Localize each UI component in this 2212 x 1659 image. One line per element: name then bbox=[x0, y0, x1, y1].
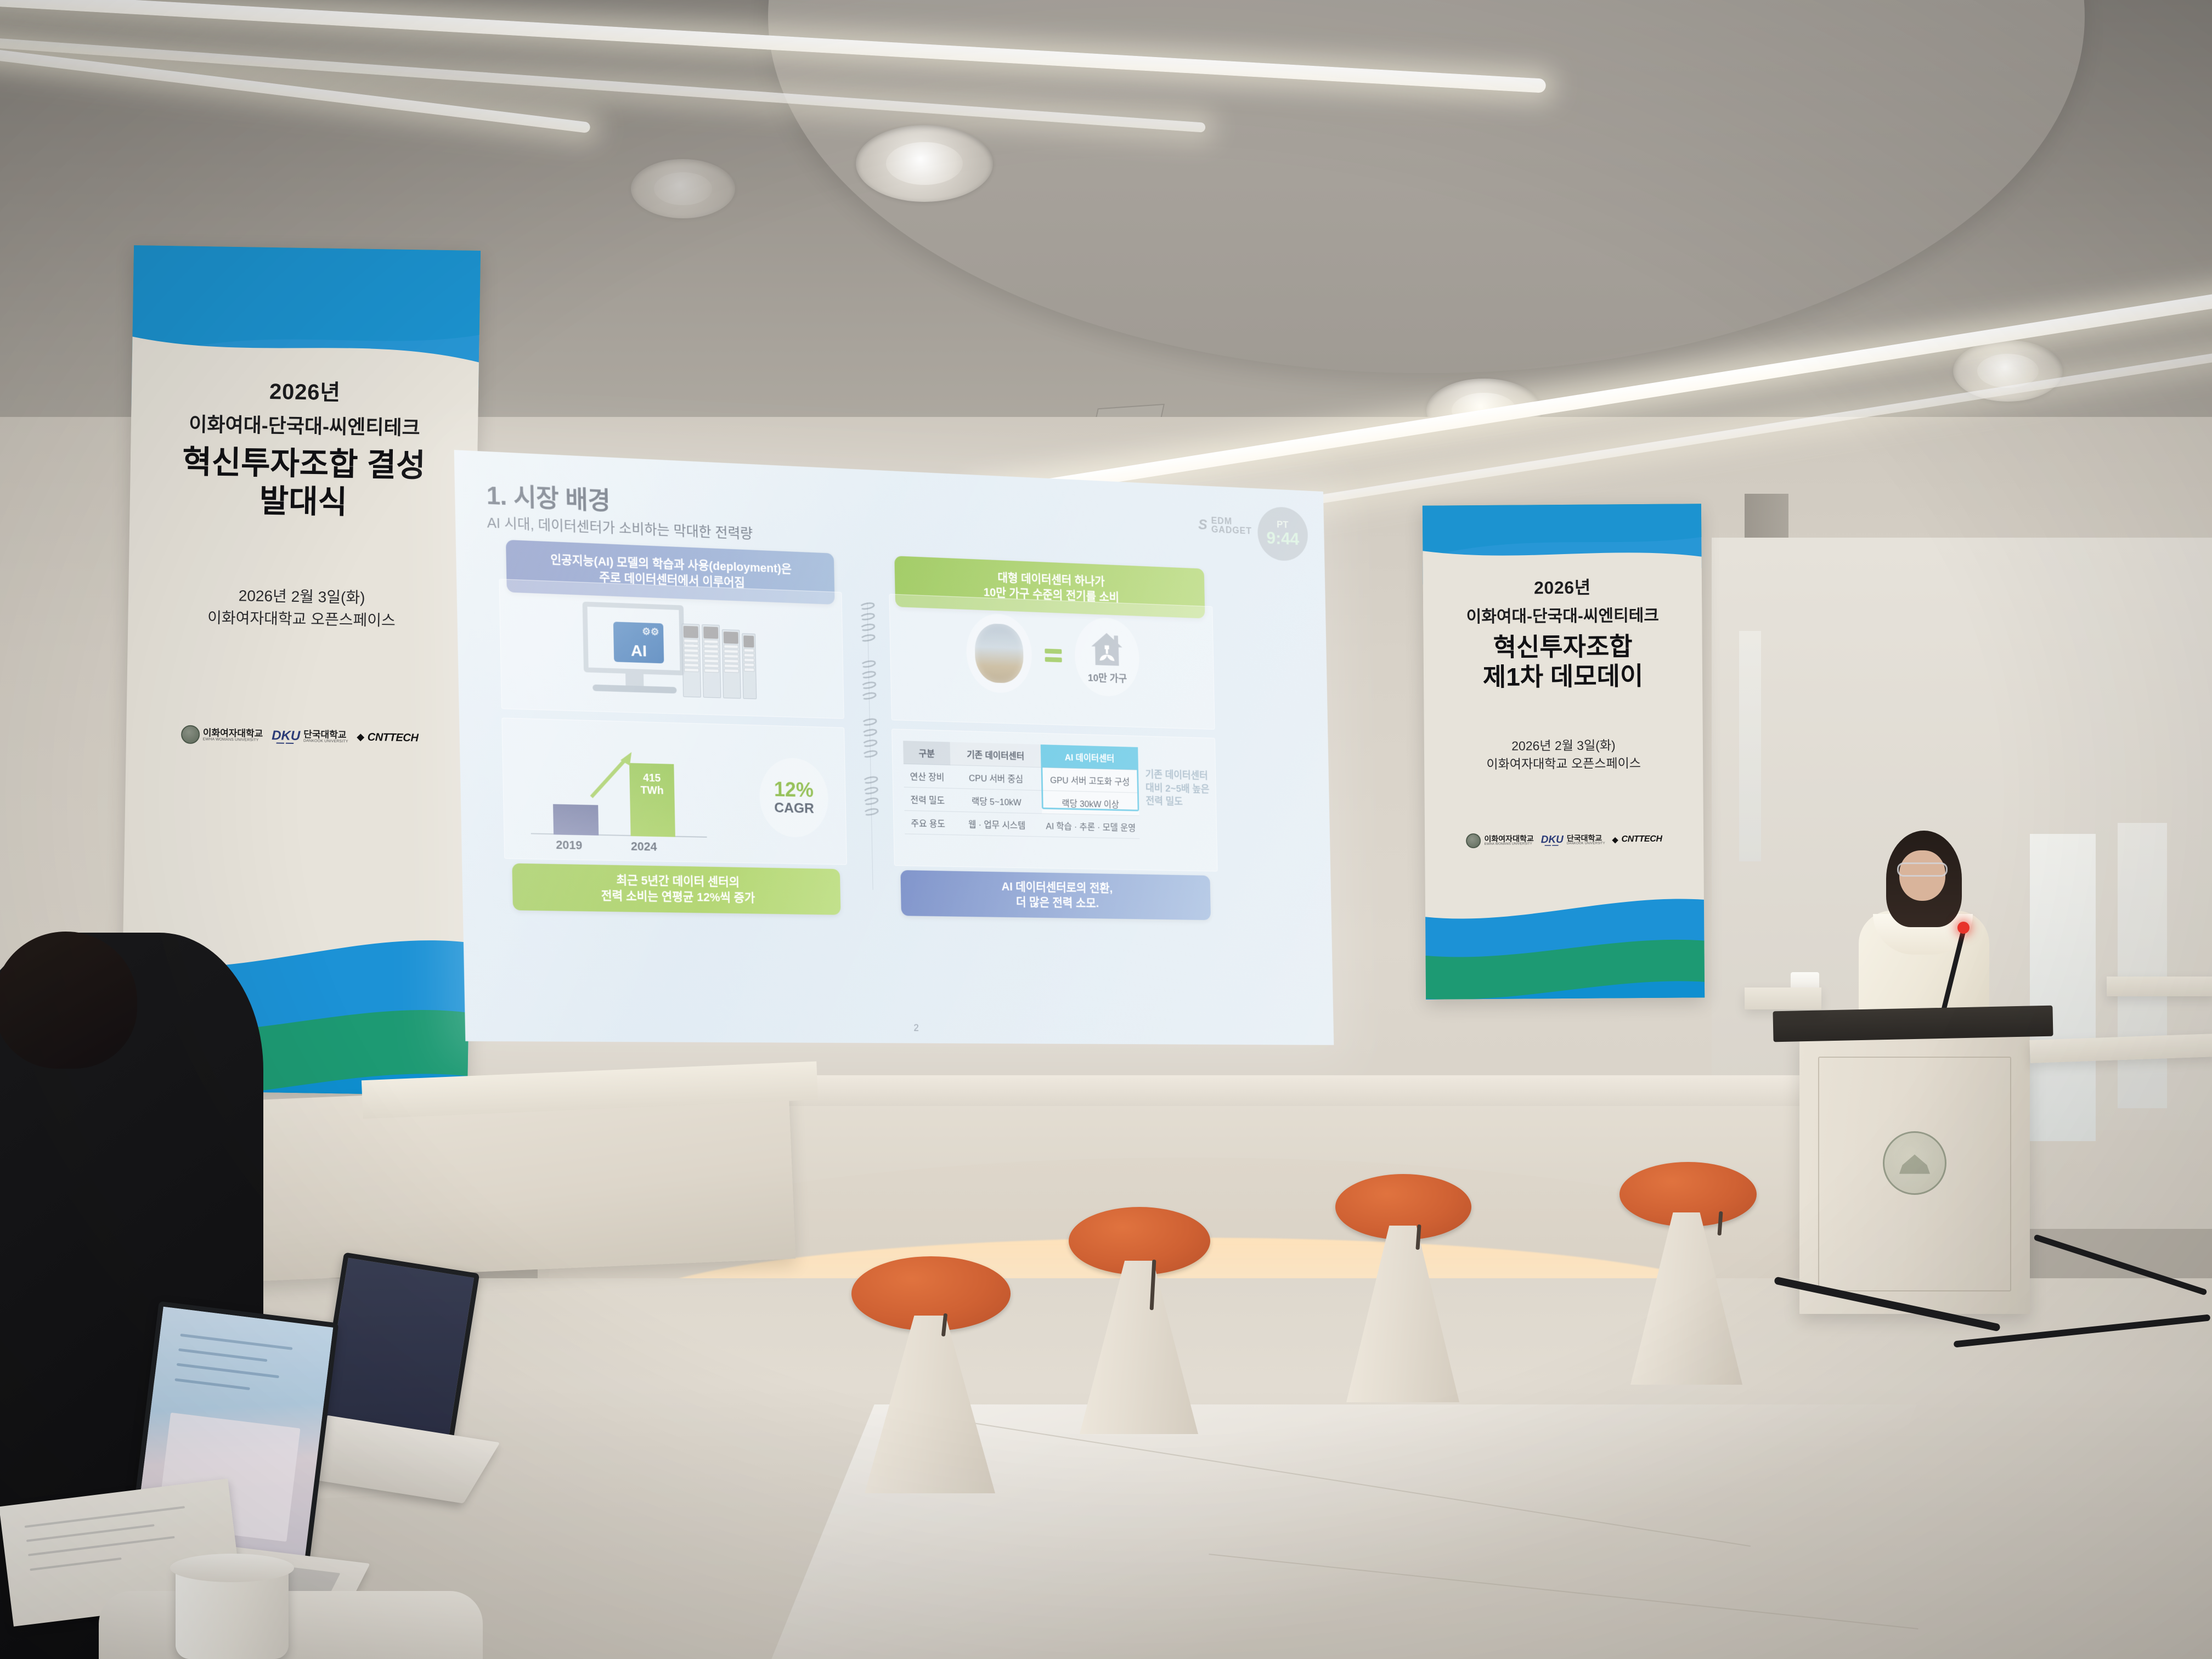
glasses-icon bbox=[1897, 862, 1948, 877]
microphone-status-led bbox=[1957, 922, 1970, 934]
ai-chip-label: AI bbox=[631, 642, 647, 661]
dankook-logo-ko: 단국대학교 bbox=[1567, 834, 1605, 842]
foreground-round-table bbox=[99, 1591, 483, 1659]
banner-right-date: 2026년 2월 3일(화) bbox=[1511, 736, 1616, 755]
chart-plot-area: 415TWh 2019 2024 bbox=[524, 752, 702, 838]
ewha-logo: 이화여자대학교 EWHA WOMANS UNIVERSITY bbox=[180, 725, 263, 745]
datacenter-photo-icon bbox=[974, 623, 1024, 684]
banner-right-year: 2026년 bbox=[1534, 574, 1591, 600]
power-density-note-line1: 기존 데이터센터 bbox=[1145, 769, 1207, 782]
server-rack bbox=[682, 624, 701, 698]
growth-arrow-icon bbox=[589, 748, 641, 803]
banner-left-orgs: 이화여대-단국대-씨엔티테크 bbox=[189, 409, 420, 441]
table-row-label-2: 주요 용도 bbox=[905, 811, 952, 835]
handout-text-line bbox=[28, 1536, 174, 1556]
ai-monitor-illustration: ⚙⚙ AI bbox=[583, 602, 685, 697]
event-banner-right: 2026년 이화여대-단국대-씨엔티테크 혁신투자조합 제1차 데모데이 202… bbox=[1423, 504, 1705, 1000]
left-footer-line1: 최근 5년간 데이터 센터의 bbox=[616, 873, 740, 890]
projection-screen: 1. 시장 배경 AI 시대, 데이터센터가 소비하는 막대한 전력량 S ED… bbox=[454, 450, 1334, 1045]
banner-right-location: 이화여자대학교 오픈스페이스 bbox=[1486, 754, 1641, 774]
dankook-logo-ko: 단국대학교 bbox=[303, 730, 348, 740]
banner-left-logo-row: 이화여자대학교 EWHA WOMANS UNIVERSITY D͟K͟U 단국대… bbox=[180, 725, 418, 748]
dankook-logo-en: DANKOOK UNIVERSITY bbox=[1567, 842, 1605, 846]
cnttech-logo-text: CNTTECH bbox=[1621, 834, 1662, 845]
coffee-cup-lid bbox=[170, 1554, 294, 1582]
table-cell-ai-2: AI 학습 · 추론 · 모델 운영 bbox=[1042, 814, 1139, 839]
seal-icon bbox=[180, 725, 200, 744]
banner-right-title-line2: 제1차 데모데이 bbox=[1483, 662, 1644, 691]
dankook-logo-en: DANKOOK UNIVERSITY bbox=[303, 739, 348, 744]
dku-icon: D͟K͟U bbox=[1541, 834, 1564, 846]
window-slit bbox=[2030, 834, 2096, 1141]
stool[interactable] bbox=[1613, 1162, 1756, 1387]
monitor-base bbox=[592, 685, 676, 694]
side-table bbox=[2107, 977, 2212, 996]
ewha-emblem-icon bbox=[1883, 1131, 1946, 1195]
right-footer-line1: AI 데이터센터로의 전환, bbox=[1001, 879, 1113, 896]
cnttech-icon: ◆ bbox=[357, 732, 364, 743]
edm-swoosh-icon: S bbox=[1198, 516, 1207, 533]
seal-icon bbox=[1466, 833, 1481, 848]
banner-left-title-line1: 혁신투자조합 결성 bbox=[182, 445, 426, 484]
datacenter-equals-households: 10만 가구 bbox=[966, 613, 1140, 697]
banner-left-location: 이화여자대학교 오픈스페이스 bbox=[207, 607, 396, 632]
server-rack-illustration bbox=[682, 624, 757, 699]
presentation-slide: 1. 시장 배경 AI 시대, 데이터센터가 소비하는 막대한 전력량 S ED… bbox=[454, 450, 1334, 1045]
chart-tick-2024: 2024 bbox=[631, 839, 657, 854]
banner-right-title-line1: 혁신투자조합 bbox=[1493, 633, 1633, 662]
stool[interactable] bbox=[1059, 1207, 1212, 1437]
chart-bar-2019 bbox=[553, 804, 599, 836]
presenter-hair bbox=[1886, 831, 1962, 927]
stool-base bbox=[1630, 1212, 1742, 1385]
power-consumption-chart: 415TWh 2019 2024 12% CAGR bbox=[523, 724, 832, 858]
handout-text-line bbox=[25, 1506, 185, 1528]
house-plug-icon bbox=[1088, 629, 1125, 669]
monitor-stand bbox=[625, 674, 644, 686]
cagr-callout: 12% CAGR bbox=[759, 757, 829, 838]
households-bubble: 10만 가구 bbox=[1074, 617, 1140, 697]
server-rack bbox=[722, 629, 741, 698]
stool[interactable] bbox=[1328, 1174, 1470, 1404]
dankook-logo: D͟K͟U 단국대학교 DANKOOK UNIVERSITY bbox=[1541, 834, 1605, 847]
households-label: 10만 가구 bbox=[1088, 670, 1127, 685]
podium-worktop bbox=[1773, 1006, 2053, 1042]
table-cell-legacy-0: CPU 서버 중심 bbox=[950, 765, 1041, 791]
cagr-label: CAGR bbox=[774, 800, 814, 816]
server-rack bbox=[702, 624, 721, 698]
watermark-brand-line2: GADGET bbox=[1211, 524, 1252, 536]
audience-member-head bbox=[0, 932, 137, 1069]
ai-chip-icon: ⚙⚙ AI bbox=[613, 622, 664, 663]
ceiling-cove-light-3 bbox=[0, 42, 591, 133]
table-header-2: AI 데이터센터 bbox=[1041, 744, 1138, 770]
window-slit bbox=[2118, 823, 2167, 1108]
power-density-note: 기존 데이터센터 대비 2~5배 높은 전력 밀도 bbox=[1145, 768, 1214, 810]
left-footer-pill: 최근 5년간 데이터 센터의 전력 소비는 연평균 12%씩 증가 bbox=[512, 864, 840, 915]
stool-base bbox=[1346, 1226, 1459, 1402]
table-row-label-1: 전력 밀도 bbox=[904, 787, 951, 811]
table-cell-ai-1: 랙당 30kW 이상 bbox=[1041, 791, 1139, 816]
slide-title: 1. 시장 배경 bbox=[486, 476, 611, 517]
comparison-table: 구분 기존 데이터센터 AI 데이터센터 연산 장비 CPU 서버 중심 GPU… bbox=[903, 741, 1139, 839]
table-header-0: 구분 bbox=[903, 741, 950, 765]
clock-time: 9:44 bbox=[1266, 529, 1299, 549]
cagr-value: 12% bbox=[774, 780, 814, 801]
slide-page-number: 2 bbox=[913, 1023, 919, 1034]
ewha-logo: 이화여자대학교 EWHA WOMANS UNIVERSITY bbox=[1466, 833, 1533, 848]
banner-right-orgs: 이화여대-단국대-씨엔티테크 bbox=[1466, 602, 1659, 627]
table-cell-legacy-2: 웹 · 업무 시스템 bbox=[951, 812, 1042, 837]
table-header-1: 기존 데이터센터 bbox=[950, 742, 1041, 768]
power-density-note-line2: 대비 2~5배 높은 bbox=[1145, 782, 1210, 795]
screen-text-line bbox=[175, 1378, 250, 1390]
banner-left-date: 2026년 2월 3일(화) bbox=[238, 585, 365, 609]
chart-tick-2019: 2019 bbox=[556, 838, 582, 853]
monitor-frame-icon: ⚙⚙ AI bbox=[583, 602, 685, 676]
table-cell-ai-0: GPU 서버 고도화 구성 bbox=[1041, 768, 1139, 793]
server-rack bbox=[742, 633, 757, 699]
handout-text-line bbox=[26, 1524, 155, 1542]
coffee-cup[interactable] bbox=[176, 1562, 289, 1659]
stool[interactable] bbox=[839, 1256, 1004, 1492]
screen-text-line bbox=[178, 1348, 267, 1362]
stool-base bbox=[1080, 1261, 1198, 1434]
ceiling-downlight bbox=[631, 159, 735, 218]
equals-icon bbox=[1045, 648, 1062, 662]
side-table bbox=[1745, 988, 1821, 1009]
datacenter-bubble bbox=[966, 613, 1032, 694]
ewha-logo-en: EWHA WOMANS UNIVERSITY bbox=[1485, 843, 1534, 847]
right-footer-pill: AI 데이터센터로의 전환, 더 많은 전력 소모. bbox=[900, 870, 1211, 920]
ewha-logo-ko: 이화여자대학교 bbox=[203, 728, 263, 739]
ewha-logo-en: EWHA WOMANS UNIVERSITY bbox=[203, 738, 263, 743]
ewha-logo-ko: 이화여자대학교 bbox=[1484, 834, 1533, 843]
banner-left-title-line2: 발대식 bbox=[259, 484, 347, 521]
slide-subtitle: AI 시대, 데이터센터가 소비하는 막대한 전력량 bbox=[487, 512, 753, 543]
dku-icon: D͟K͟U bbox=[272, 728, 300, 744]
cnttech-icon: ◆ bbox=[1612, 835, 1618, 844]
podium bbox=[1799, 1034, 2030, 1314]
clock-overlay: PT 9:44 bbox=[1257, 506, 1308, 562]
table-cell-legacy-1: 랙당 5~10kW bbox=[951, 788, 1042, 814]
handout-text-line bbox=[30, 1558, 121, 1571]
left-footer-line2: 전력 소비는 연평균 12%씩 증가 bbox=[601, 888, 755, 906]
dankook-logo: D͟K͟U 단국대학교 DANKOOK UNIVERSITY bbox=[272, 728, 348, 744]
right-footer-line2: 더 많은 전력 소모. bbox=[1016, 895, 1099, 911]
ceiling-downlight bbox=[856, 125, 993, 202]
banner-right-logo-row: 이화여자대학교 EWHA WOMANS UNIVERSITY D͟K͟U 단국대… bbox=[1466, 832, 1662, 848]
stool-base bbox=[865, 1316, 995, 1493]
table-row-label-0: 연산 장비 bbox=[904, 764, 951, 789]
cnttech-logo: ◆ CNTTECH bbox=[1612, 834, 1662, 845]
window-slit bbox=[1739, 631, 1761, 861]
screen-text-line bbox=[180, 1334, 293, 1350]
edm-gadget-watermark: S EDM GADGET bbox=[1198, 516, 1252, 536]
presentation-room-scene: 2026년 이화여대-단국대-씨엔티테크 혁신투자조합 결성 발대식 2026년… bbox=[0, 0, 2212, 1659]
screen-text-line bbox=[177, 1363, 279, 1379]
cnttech-logo: ◆ CNTTECH bbox=[357, 731, 418, 744]
banner-left-year: 2026년 bbox=[269, 374, 341, 407]
spiral-binding-decoration bbox=[860, 602, 881, 890]
cnttech-logo-text: CNTTECH bbox=[368, 731, 419, 744]
gears-icon: ⚙⚙ bbox=[642, 626, 659, 638]
power-density-note-line3: 전력 밀도 bbox=[1145, 796, 1183, 808]
